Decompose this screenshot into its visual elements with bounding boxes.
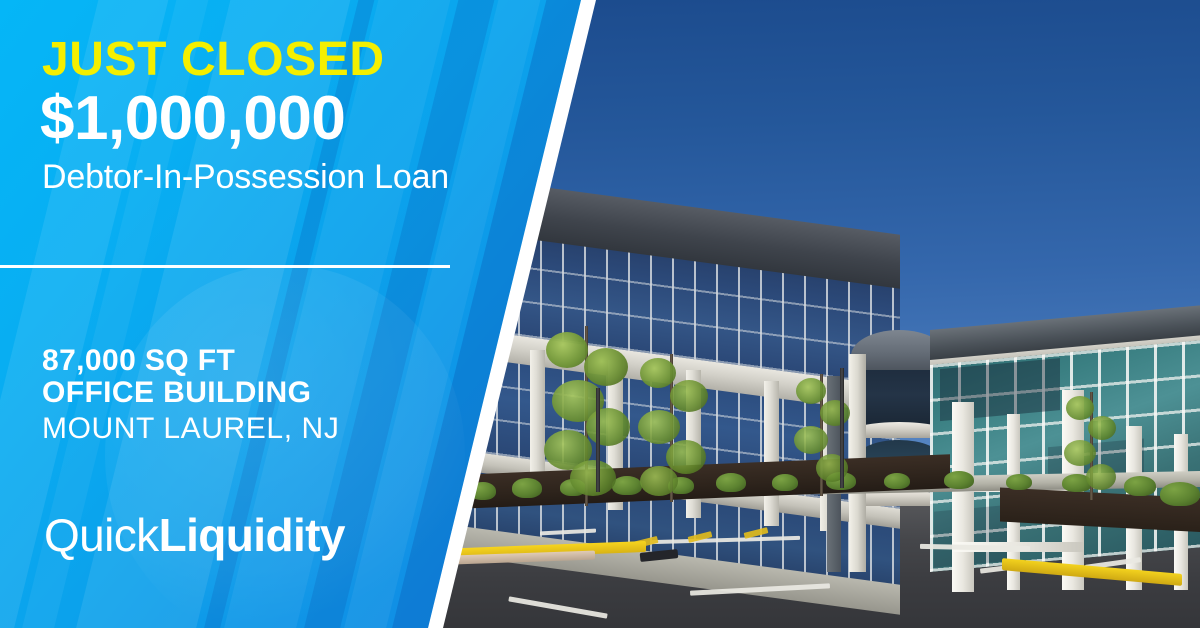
tree-foliage bbox=[794, 426, 828, 454]
right-wing-column-frame bbox=[952, 402, 974, 592]
horizontal-divider bbox=[0, 265, 450, 268]
property-location: MOUNT LAUREL, NJ bbox=[42, 412, 339, 446]
property-size: 87,000 SQ FT bbox=[42, 344, 235, 378]
logo-word-quick: Quick bbox=[44, 509, 159, 561]
loan-amount: $1,000,000 bbox=[40, 88, 345, 150]
tree-foliage bbox=[1066, 396, 1094, 420]
tree-foliage bbox=[796, 378, 826, 404]
tree-foliage bbox=[670, 380, 708, 412]
property-type: OFFICE BUILDING bbox=[42, 376, 311, 410]
facade-column bbox=[764, 381, 779, 526]
shrub bbox=[1124, 476, 1156, 496]
tree-foliage bbox=[640, 466, 678, 496]
tree-foliage bbox=[1088, 416, 1116, 440]
quickliquidity-logo[interactable]: QuickLiquidity bbox=[44, 512, 345, 558]
panel-content: JUST CLOSED $1,000,000 Debtor-In-Possess… bbox=[0, 0, 600, 628]
light-pole bbox=[840, 368, 844, 488]
tree-foliage bbox=[820, 400, 850, 426]
shrub bbox=[1006, 474, 1032, 490]
shrub bbox=[716, 473, 746, 492]
shrub bbox=[884, 473, 910, 489]
landscape-tree bbox=[632, 354, 710, 502]
shrub bbox=[944, 471, 974, 489]
tree-foliage bbox=[638, 410, 680, 444]
marketing-graphic-canvas: JUST CLOSED $1,000,000 Debtor-In-Possess… bbox=[0, 0, 1200, 628]
logo-word-liquidity: Liquidity bbox=[159, 509, 345, 561]
tree-foliage bbox=[1086, 464, 1116, 490]
landscape-tree bbox=[1062, 392, 1120, 500]
tree-foliage bbox=[1064, 440, 1096, 466]
eyebrow-just-closed: JUST CLOSED bbox=[42, 36, 385, 84]
loan-type: Debtor-In-Possession Loan bbox=[42, 158, 449, 197]
tree-foliage bbox=[640, 358, 676, 388]
shrub bbox=[1160, 482, 1200, 506]
tree-foliage bbox=[666, 440, 706, 474]
